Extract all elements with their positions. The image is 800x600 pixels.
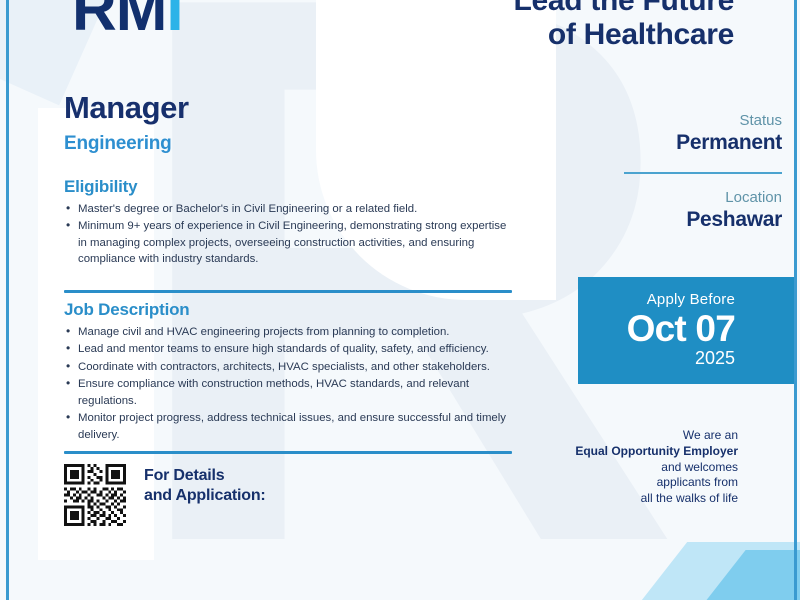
job-description-section: Job Description Manage civil and HVAC en… [64,290,512,444]
eligibility-heading: Eligibility [64,177,512,197]
job-description-list: Manage civil and HVAC engineering projec… [64,324,512,444]
application-label-line-2: and Application: [144,486,266,506]
eoe-line-4: all the walks of life [641,491,738,505]
apply-deadline-date: Oct 07 [627,309,735,348]
border-right [794,0,797,600]
logo-text-rm: RM [72,0,166,44]
status-block: Status Permanent [556,112,782,155]
qr-code-icon[interactable] [64,464,126,526]
rmi-logo: RMI [72,0,183,45]
border-left [6,0,9,600]
logo-text-i: I [166,0,182,44]
headline-line-1: Lead the Future [513,0,734,18]
apply-deadline-year: 2025 [695,349,735,369]
location-block: Location Peshawar [556,189,782,232]
application-label-line-1: For Details [144,466,266,486]
eligibility-section: Eligibility Master's degree or Bachelor'… [64,177,512,268]
eoe-line-3: applicants from [657,475,738,489]
list-item: Coordinate with contractors, architects,… [64,359,512,376]
eoe-line-1: We are an [683,428,738,442]
list-item: Monitor project progress, address techni… [64,410,512,443]
eoe-line-2: and welcomes [661,460,738,474]
job-description-heading: Job Description [64,300,512,320]
location-label: Location [556,189,782,207]
application-block: For Details and Application: [64,464,512,526]
list-item: Lead and mentor teams to ensure high sta… [64,341,512,358]
headline-line-2: of Healthcare [513,18,734,52]
location-value: Peshawar [556,208,782,232]
list-item: Manage civil and HVAC engineering projec… [64,324,512,341]
left-column: Manager Engineering Eligibility Master's… [64,92,512,526]
divider-meta [624,172,782,174]
eoe-strong: Equal Opportunity Employer [568,444,738,460]
job-department: Engineering [64,133,512,155]
divider-application [64,451,512,454]
list-item: Master's degree or Bachelor's in Civil E… [64,201,512,218]
list-item: Minimum 9+ years of experience in Civil … [64,218,512,268]
status-value: Permanent [556,131,782,155]
application-label: For Details and Application: [144,464,266,506]
right-column: Status Permanent Location Peshawar [556,112,782,232]
headline: Lead the Future of Healthcare [513,0,734,52]
status-label: Status [556,112,782,130]
equal-opportunity-statement: We are an Equal Opportunity Employer and… [568,428,738,507]
list-item: Ensure compliance with construction meth… [64,376,512,409]
eligibility-list: Master's degree or Bachelor's in Civil E… [64,201,512,268]
apply-before-label: Apply Before [647,292,735,309]
job-title: Manager [64,92,512,125]
divider-job-description [64,290,512,293]
apply-deadline-box: Apply Before Oct 07 2025 [578,277,797,384]
job-posting-poster: R RMI Lead the Future of Healthcare Mana… [0,0,800,600]
